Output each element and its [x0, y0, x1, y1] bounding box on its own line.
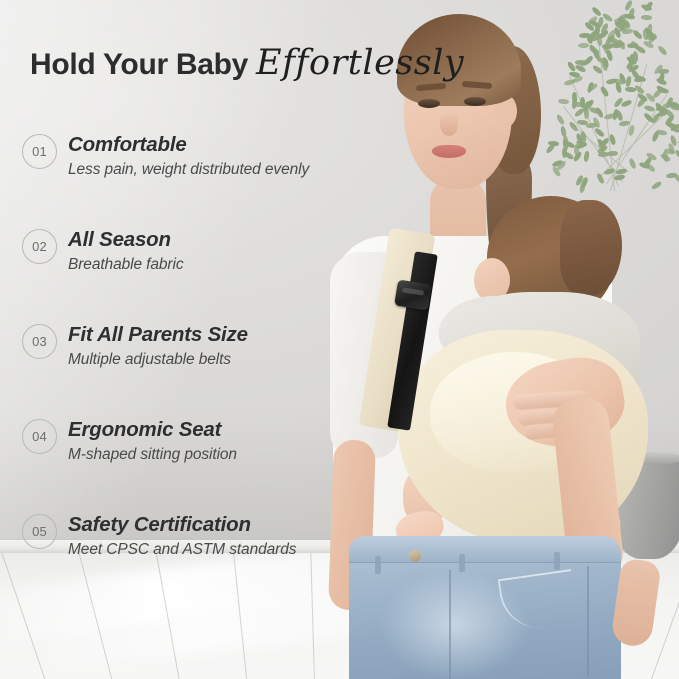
feature-list: 01ComfortableLess pain, weight distribut…	[22, 128, 362, 603]
feature-title: All Season	[68, 228, 171, 252]
jeans-waistband	[349, 536, 621, 563]
feature-subtitle: Breathable fabric	[68, 256, 183, 274]
feature-number-badge: 05	[22, 514, 57, 549]
nose	[440, 112, 458, 136]
feature-title: Ergonomic Seat	[68, 418, 221, 442]
headline-bold: Hold Your Baby	[30, 48, 248, 81]
feature-number-badge: 02	[22, 229, 57, 264]
feature-subtitle: Meet CPSC and ASTM standards	[68, 541, 296, 559]
product-feature-image: Hold Your BabyEffortlessly 01Comfortable…	[0, 0, 679, 679]
page-headline: Hold Your BabyEffortlessly	[30, 43, 464, 83]
feature-item: 01ComfortableLess pain, weight distribut…	[22, 128, 362, 223]
feature-number-badge: 04	[22, 419, 57, 454]
feature-item: 02All SeasonBreathable fabric	[22, 223, 362, 318]
lips	[432, 145, 466, 158]
jeans-seam	[587, 566, 589, 676]
feature-item: 05Safety CertificationMeet CPSC and ASTM…	[22, 508, 362, 603]
feature-title: Comfortable	[68, 133, 187, 157]
jeans-button	[409, 550, 421, 562]
feature-title: Fit All Parents Size	[68, 323, 248, 347]
feature-title: Safety Certification	[68, 513, 251, 537]
blue-jeans	[349, 536, 621, 679]
headline-script: Effortlessly	[256, 43, 464, 83]
feature-number-badge: 01	[22, 134, 57, 169]
jeans-belt-loop	[554, 552, 560, 570]
feature-number-badge: 03	[22, 324, 57, 359]
feature-subtitle: M-shaped sitting position	[68, 446, 237, 464]
feature-item: 03Fit All Parents SizeMultiple adjustabl…	[22, 318, 362, 413]
eye-left	[418, 99, 440, 108]
carrier-buckle	[394, 280, 432, 311]
jeans-seam	[449, 570, 451, 679]
feature-subtitle: Multiple adjustable belts	[68, 351, 231, 369]
feature-subtitle: Less pain, weight distributed evenly	[68, 161, 309, 179]
baby-hair	[560, 200, 622, 296]
feature-item: 04Ergonomic SeatM-shaped sitting positio…	[22, 413, 362, 508]
eye-right	[464, 97, 486, 106]
